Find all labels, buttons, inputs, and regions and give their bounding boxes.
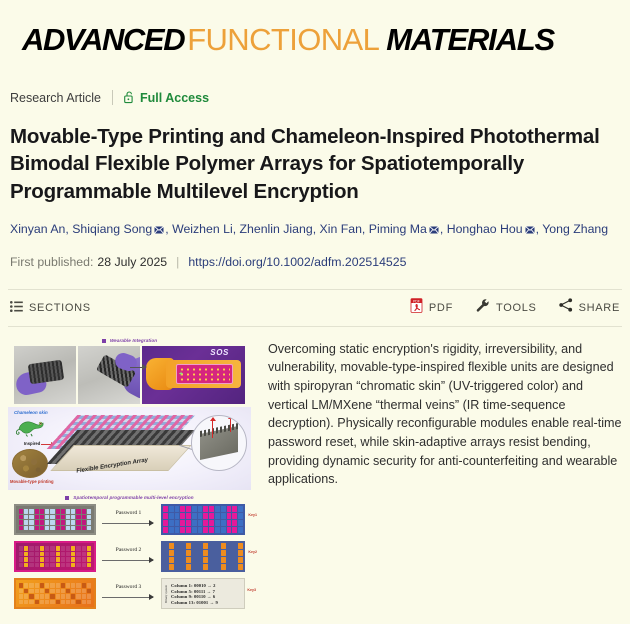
output-grid	[163, 506, 243, 533]
source-grid	[19, 583, 91, 604]
share-label: SHARE	[579, 302, 620, 314]
author-name[interactable]: Zhenlin Jiang	[240, 222, 313, 236]
article-type-label: Research Article	[10, 91, 101, 105]
panel-wearable-integration: + SOS	[8, 346, 251, 404]
author-name[interactable]: Yong Zhang	[542, 222, 608, 236]
key-label: Key3	[247, 588, 256, 592]
author-name[interactable]: Honghao Hou	[447, 222, 523, 236]
wrench-icon	[475, 298, 490, 318]
full-access-badge[interactable]: Full Access	[124, 91, 209, 105]
source-grid	[19, 509, 91, 530]
panel1-caption-text: Wearable Integration	[110, 338, 157, 343]
photo-device-on-arm	[78, 346, 140, 404]
panel3-caption: Spatiotemporal programmable multi-level …	[8, 493, 251, 503]
tools-label: TOOLS	[496, 302, 537, 314]
sections-label: SECTIONS	[29, 302, 91, 314]
toolbar-bottom-divider	[8, 326, 622, 327]
sections-button[interactable]: SECTIONS	[10, 299, 91, 317]
step-arrow	[102, 560, 153, 561]
pdf-icon: PDF	[410, 298, 423, 318]
binary-row: Column 9: 00110 → 6	[171, 594, 242, 599]
pdf-label: PDF	[429, 302, 453, 314]
full-access-label: Full Access	[140, 91, 209, 105]
article-page: ADVANCED FUNCTIONAL MATERIALS Research A…	[0, 0, 630, 624]
share-icon	[559, 298, 573, 317]
author-name[interactable]: Weizhen Li	[172, 222, 233, 236]
source-array-thermal	[14, 578, 96, 609]
article-title: Movable-Type Printing and Chameleon-Insp…	[10, 123, 620, 205]
publication-divider: |	[176, 255, 179, 269]
inspired-label: Inspired	[24, 441, 40, 446]
password-step: Password 3	[96, 584, 161, 604]
pdf-button[interactable]: PDF PDF	[410, 298, 453, 318]
publication-row: First published: 28 July 2025 | https://…	[10, 255, 620, 269]
envelope-icon[interactable]	[525, 221, 535, 240]
movable-type-printing-image	[12, 449, 48, 478]
share-button[interactable]: SHARE	[559, 298, 620, 317]
output-grid	[163, 543, 243, 570]
password-label: Password 2	[116, 547, 142, 553]
key-label: Key2	[248, 550, 257, 554]
article-content: Wearable Integration	[8, 336, 622, 611]
key-label: Key1	[248, 513, 257, 517]
author-name[interactable]: Xin Fan	[320, 222, 362, 236]
svg-text:PDF: PDF	[413, 299, 420, 303]
encryption-row: Password 2 Key2	[14, 540, 245, 574]
source-array-magenta	[14, 541, 96, 572]
bullet-square-icon	[65, 496, 69, 500]
magnified-inset	[191, 415, 247, 471]
stretch-arrow	[212, 420, 213, 438]
thermal-sos-text: SOS	[210, 348, 229, 357]
bullet-square-icon	[102, 339, 106, 343]
binary-row: Column 1: 00010 → 2	[171, 583, 242, 588]
stretch-arrow	[230, 418, 231, 432]
masthead-materials: MATERIALS	[386, 22, 554, 58]
author-list: Xinyan An, Shiqiang Song, Weizhen Li, Zh…	[10, 220, 620, 240]
step-arrow	[102, 597, 153, 598]
device-array-block	[28, 360, 64, 385]
decrypted-output-2: Key2	[161, 541, 245, 572]
movable-type-printing-label: Movable-type printing	[10, 479, 54, 484]
password-label: Password 3	[116, 584, 142, 590]
ir-encryption-patch	[176, 364, 233, 384]
step-arrow	[102, 523, 153, 524]
password-step: Password 1	[96, 510, 161, 530]
envelope-icon[interactable]	[154, 221, 164, 240]
binary-row: Column 13: 01001 → 9	[171, 600, 242, 605]
panel-multilevel-encryption: Spatiotemporal programmable multi-level …	[8, 493, 251, 611]
abstract-text: Overcoming static encryption's rigidity,…	[268, 340, 622, 489]
abstract-column: Overcoming static encryption's rigidity,…	[251, 336, 622, 611]
panel1-arrow	[130, 367, 146, 368]
ir-patch-dots	[179, 367, 230, 381]
source-array-grayscale	[14, 504, 96, 535]
envelope-icon[interactable]	[429, 221, 439, 240]
binary-decode-table: Binary system Column 1: 00010 → 2 Column…	[161, 578, 245, 609]
list-icon	[10, 299, 23, 317]
graphical-abstract-figure[interactable]: Wearable Integration	[8, 336, 251, 611]
graphical-abstract-column: Wearable Integration	[8, 336, 251, 611]
meta-divider	[112, 90, 113, 105]
encryption-row: Password 1 Key1	[14, 503, 245, 537]
author-name[interactable]: Shiqiang Song	[72, 222, 152, 236]
encryption-row: Password 3 Binary system Column 1: 00010…	[14, 577, 245, 611]
chameleon-skin-label: Chameleon skin	[14, 410, 48, 415]
first-published-label: First published:	[10, 255, 93, 269]
source-grid	[19, 546, 91, 567]
photo-device-in-hand	[14, 346, 76, 404]
panel1-caption: Wearable Integration	[8, 336, 251, 346]
decrypted-output-1: Key1	[161, 504, 245, 535]
tools-button[interactable]: TOOLS	[475, 298, 537, 318]
masthead-advanced: ADVANCED	[22, 22, 184, 58]
password-label: Password 1	[116, 510, 142, 516]
article-toolbar: SECTIONS PDF PDF	[10, 290, 620, 326]
doi-link[interactable]: https://doi.org/10.1002/adfm.202514525	[188, 255, 406, 269]
masthead-functional: FUNCTIONAL	[187, 22, 379, 58]
journal-masthead[interactable]: ADVANCED FUNCTIONAL MATERIALS	[0, 0, 630, 58]
panel3-caption-text: Spatiotemporal programmable multi-level …	[73, 495, 193, 500]
author-name[interactable]: Piming Ma	[369, 222, 427, 236]
open-lock-icon	[124, 91, 135, 104]
author-name[interactable]: Xinyan An	[10, 222, 65, 236]
ir-marker: +	[179, 371, 183, 378]
binary-row: Column 5: 00111 → 7	[171, 589, 242, 594]
publication-date: 28 July 2025	[97, 255, 167, 269]
chameleon-illustration	[13, 417, 47, 437]
binary-axis-label: Binary system	[163, 582, 170, 605]
password-step: Password 2	[96, 547, 161, 567]
thermal-ir-image: + SOS	[142, 346, 245, 404]
article-meta-row: Research Article Full Access	[10, 90, 630, 105]
panel-flexible-encryption-array: Chameleon skin Inspired Movable-typ	[8, 407, 251, 490]
binary-rows: Column 1: 00010 → 2 Column 5: 00111 → 7 …	[171, 581, 242, 606]
